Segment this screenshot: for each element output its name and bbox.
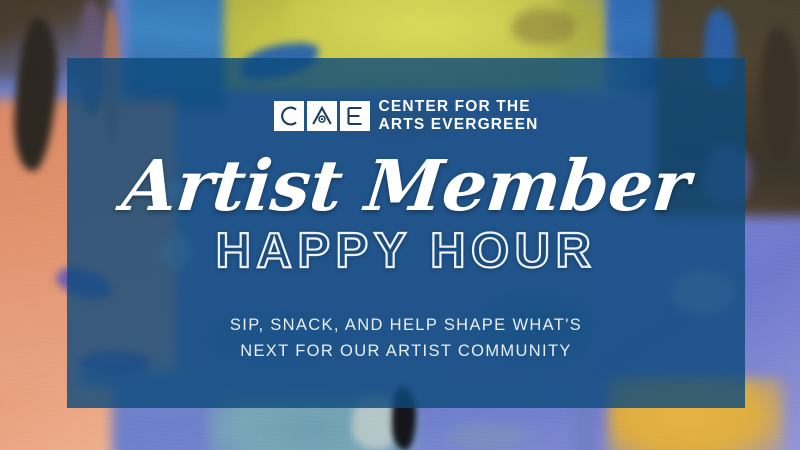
cae-wordmark: CENTER FOR THE ARTS EVERGREEN <box>379 98 539 135</box>
event-title-script: Artist Member <box>119 151 693 221</box>
cae-logo: CENTER FOR THE ARTS EVERGREEN <box>274 98 539 135</box>
event-subtitle-line-2: NEXT FOR OUR ARTIST COMMUNITY <box>230 338 582 365</box>
cae-logo-mark <box>274 101 370 131</box>
event-subtitle: SIP, SNACK, AND HELP SHAPE WHAT'S NEXT F… <box>230 312 582 365</box>
logo-letter-c-tile <box>274 101 304 131</box>
poster-canvas: CENTER FOR THE ARTS EVERGREEN Artist Mem… <box>0 0 800 450</box>
event-subtitle-line-1: SIP, SNACK, AND HELP SHAPE WHAT'S <box>230 312 582 339</box>
event-title-outline: HAPPY HOUR <box>216 227 597 276</box>
blue-overlay-panel: CENTER FOR THE ARTS EVERGREEN Artist Mem… <box>67 58 745 408</box>
cae-wordmark-line-2: ARTS EVERGREEN <box>379 116 539 134</box>
logo-letter-e-tile <box>340 101 370 131</box>
logo-letter-a-eye-tile <box>307 101 337 131</box>
cae-wordmark-line-1: CENTER FOR THE <box>379 98 539 116</box>
